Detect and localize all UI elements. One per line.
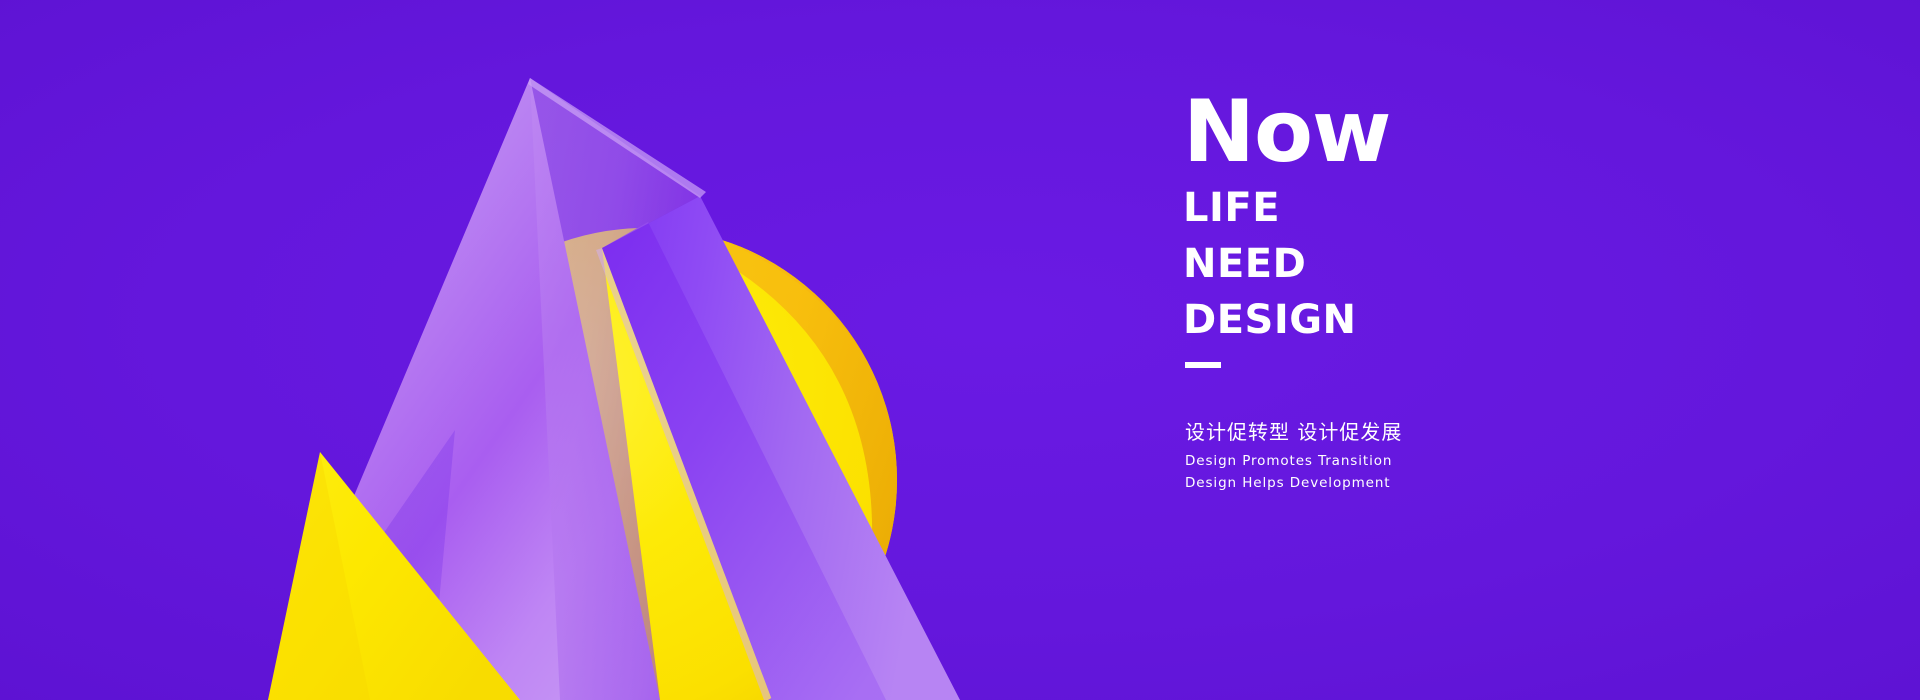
headline-line-life: LIFE — [1183, 186, 1613, 230]
wordmark-now: Now — [1183, 96, 1613, 170]
subtitle-english-line-2: Design Helps Development — [1185, 474, 1613, 494]
subtitle-chinese: 设计促转型 设计促发展 — [1185, 420, 1613, 444]
poster-canvas: Now LIFE NEED DESIGN 设计促转型 设计促发展 Design … — [0, 0, 1920, 700]
subtitle-english-line-1: Design Promotes Transition — [1185, 452, 1613, 472]
headline-group: LIFE NEED DESIGN — [1183, 186, 1613, 342]
abstract-artwork — [0, 0, 1920, 700]
headline-line-need: NEED — [1183, 242, 1613, 286]
text-block: Now LIFE NEED DESIGN 设计促转型 设计促发展 Design … — [1183, 96, 1613, 493]
headline-line-design: DESIGN — [1183, 298, 1613, 342]
divider-dash — [1185, 362, 1221, 368]
